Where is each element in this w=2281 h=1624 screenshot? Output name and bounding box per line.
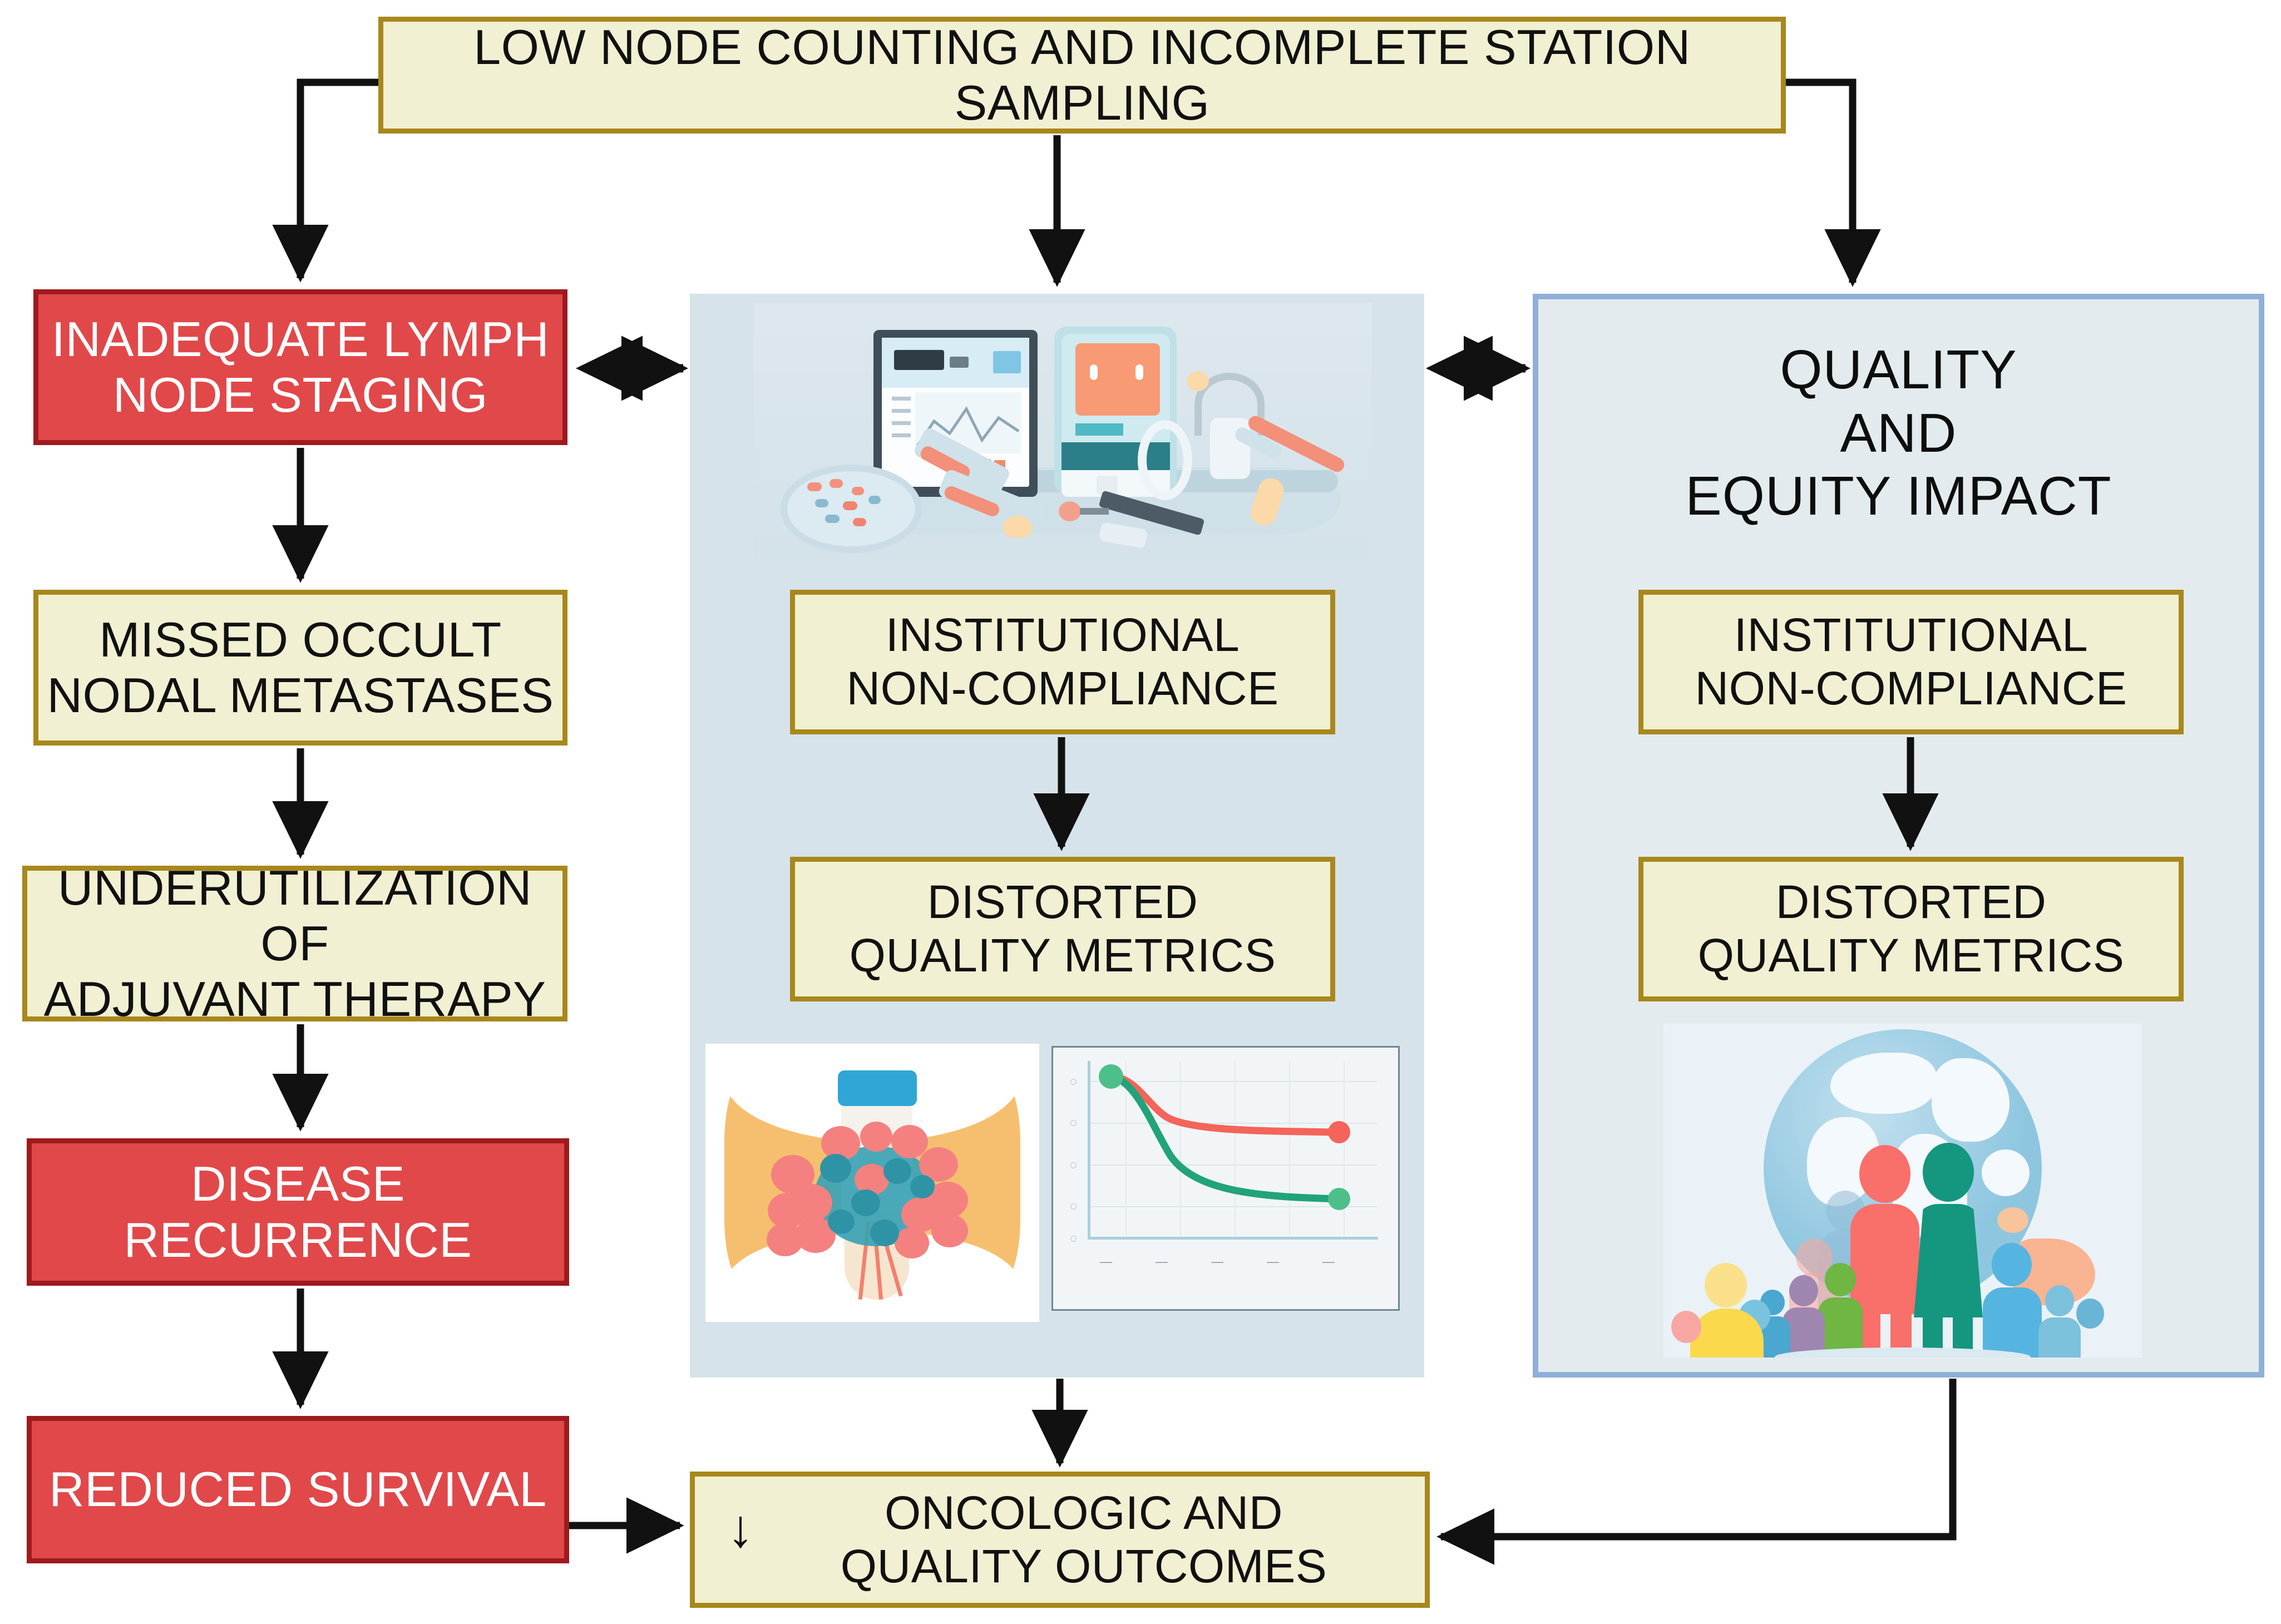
title-box[interactable]: LOW NODE COUNTING AND INCOMPLETE STATION… [378, 17, 1786, 134]
box-label: MISSED OCCULT NODAL METASTASES [47, 612, 554, 724]
survival-curve-chart: ◌ ◌ ◌ ◌ ◌ — — — — — [1051, 1046, 1400, 1311]
surgical-equipment-illustration [754, 303, 1371, 559]
lymph-node-specimen-illustration [705, 1044, 1039, 1322]
box-label: INSTITUTIONAL NON-COMPLIANCE [1695, 609, 2127, 715]
down-arrow-icon: ↓ [727, 1508, 754, 1551]
global-equity-illustration [1663, 1024, 2142, 1358]
box-reduced-survival[interactable]: REDUCED SURVIVAL [27, 1416, 569, 1563]
box-label: REDUCED SURVIVAL [49, 1462, 547, 1517]
box-label: UNDERUTILIZATION OF ADJUVANT THERAPY [27, 860, 562, 1028]
box-disease-recurrence[interactable]: DISEASE RECURRENCE [27, 1138, 569, 1286]
box-label: INADEQUATE LYMPH NODE STAGING [52, 312, 550, 423]
box-label: DISTORTED QUALITY METRICS [1698, 876, 2125, 983]
box-underutilization-of-adjuvant-therapy[interactable]: UNDERUTILIZATION OF ADJUVANT THERAPY [22, 866, 567, 1021]
box-right-institutional-non-compliance[interactable]: INSTITUTIONAL NON-COMPLIANCE [1638, 590, 2184, 734]
box-inadequate-lymph-node-staging[interactable]: INADEQUATE LYMPH NODE STAGING [33, 289, 567, 445]
box-label: DISTORTED QUALITY METRICS [850, 876, 1276, 983]
box-missed-occult-nodal-metastases[interactable]: MISSED OCCULT NODAL METASTASES [33, 590, 567, 746]
box-label: DISEASE RECURRENCE [32, 1156, 564, 1268]
title-box-label: LOW NODE COUNTING AND INCOMPLETE STATION… [383, 19, 1781, 131]
box-oncologic-and-quality-outcomes[interactable]: ↓ ONCOLOGIC AND QUALITY OUTCOMES [690, 1472, 1430, 1608]
right-panel-title: QUALITY AND EQUITY IMPACT [1538, 338, 2259, 528]
box-right-distorted-quality-metrics[interactable]: DISTORTED QUALITY METRICS [1638, 857, 2184, 1001]
box-mid-institutional-non-compliance[interactable]: INSTITUTIONAL NON-COMPLIANCE [790, 590, 1335, 734]
box-mid-distorted-quality-metrics[interactable]: DISTORTED QUALITY METRICS [790, 857, 1335, 1001]
box-label: ONCOLOGIC AND QUALITY OUTCOMES [793, 1487, 1327, 1593]
box-label: INSTITUTIONAL NON-COMPLIANCE [846, 609, 1278, 715]
